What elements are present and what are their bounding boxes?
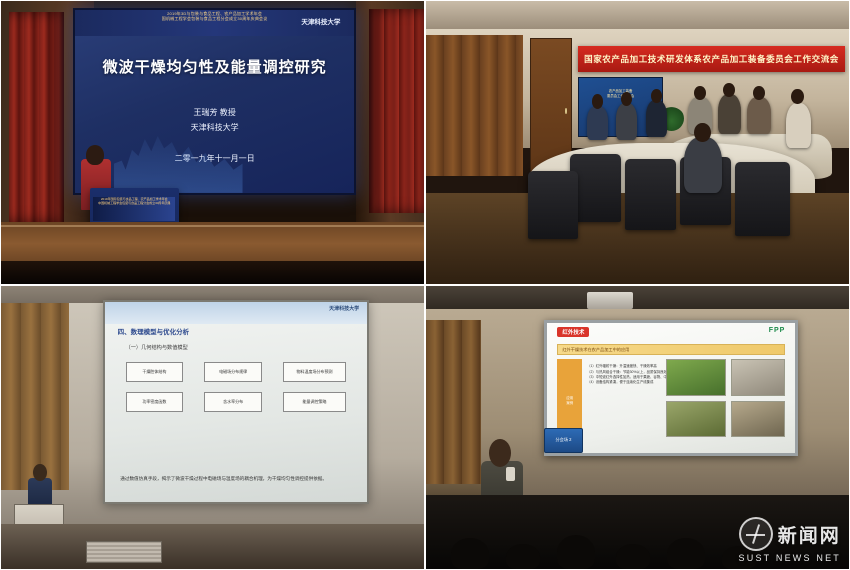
photo-panel-top-right: 国家农产品加工技术研发体系农产品加工装备委员会工作交流会 农产品加工装备 委员会… — [425, 0, 850, 285]
speaker-head-1 — [86, 145, 104, 165]
attendee-head — [651, 89, 662, 103]
slide-diagram-box: 功率密度函数 — [126, 392, 184, 412]
room4-wood-panel — [426, 320, 481, 490]
photo-collage: 2019年3D与包装与食品工程、农产品加工学术年会 国机械工程学会包装与食品工程… — [0, 0, 850, 570]
slide-title: 微波干燥均匀性及能量调控研究 — [92, 56, 338, 77]
attendee-head — [694, 86, 706, 100]
microphone-icon — [506, 467, 514, 481]
audience-head — [722, 546, 756, 569]
conference-banner: 国家农产品加工技术研发体系农产品加工装备委员会工作交流会 — [578, 46, 844, 71]
wall-vent-grille — [86, 541, 162, 564]
hall-floor — [1, 524, 424, 569]
ceiling-projector-icon — [587, 292, 634, 309]
session-badge-4: 分会场 2 — [544, 428, 582, 453]
photo-panel-bottom-left: 天津科技大学 四、数理模型与优化分析 （一）几何结构与数值模型 干燥腔体结构 电… — [0, 285, 425, 570]
slide-subheading-3: （一）几何结构与数值模型 — [126, 344, 283, 351]
slide-diagram-box: 物料温度场分布预测 — [283, 362, 346, 382]
office-chair — [735, 162, 790, 236]
office-chair — [625, 159, 676, 230]
audience-head — [506, 544, 540, 569]
slide-diagram-box: 电磁场分布规律 — [204, 362, 262, 382]
stage-edge-line — [1, 225, 424, 227]
attendee-head — [694, 123, 711, 143]
office-chair — [528, 171, 579, 239]
attendee — [718, 94, 741, 134]
slide-diagram-box: 干燥腔体结构 — [126, 362, 184, 382]
photo-panel-top-left: 2019年3D与包装与食品工程、农产品加工学术年会 国机械工程学会包装与食品工程… — [0, 0, 425, 285]
attendee — [747, 97, 770, 134]
projection-screen-1: 2019年3D与包装与食品工程、农产品加工学术年会 国机械工程学会包装与食品工程… — [73, 8, 356, 195]
slide-photo-thumb — [666, 359, 725, 395]
audience-head — [557, 535, 595, 569]
stage-curtain-right — [369, 9, 424, 213]
slide-presenter-info: 王瑞芳 教授 天津科技大学 二零一九年十一月一日 — [92, 105, 338, 166]
attendee-head — [753, 86, 765, 100]
slide-logo-3: 天津科技大学 — [329, 305, 359, 312]
audience-head — [616, 544, 650, 569]
speaker-head-3 — [33, 464, 47, 481]
attendee-foreground — [684, 137, 722, 194]
slide-heading-3: 四、数理模型与优化分析 — [118, 326, 302, 336]
slide-title-tag-4: 红外技术 — [557, 327, 589, 337]
door-knob-icon — [565, 108, 567, 113]
projection-screen-3: 天津科技大学 四、数理模型与优化分析 （一）几何结构与数值模型 干燥腔体结构 电… — [103, 300, 369, 504]
podium-banner-text: 2019年国际包装与食品工程、农产品加工学术年会 中国机械工程学会包装与食品工程… — [93, 197, 175, 221]
attendee — [786, 103, 811, 148]
slide-footer-3: 通过数值仿真手段，揭示了微波干燥过程中电磁场与温度场的耦合机理，为干燥均匀性调控… — [120, 476, 351, 482]
audience-head — [451, 538, 489, 569]
front-floor-shadow — [1, 261, 424, 284]
hall-wood-panel — [1, 303, 69, 490]
attendee — [646, 100, 667, 137]
attendee — [587, 106, 608, 140]
hall-pillar — [67, 303, 84, 507]
slide-photo-thumb — [731, 401, 786, 437]
slide-photo-thumb — [666, 401, 725, 437]
slide-photo-thumb — [731, 359, 786, 395]
attendee-head — [592, 94, 603, 108]
whiteboard-screen-4: 红外技术 FPP 红外干燥技术在农产品加工中的应用 （1）红外辐射干燥：升温速度… — [544, 320, 798, 456]
slide-brand-logo-4: FPP — [769, 327, 786, 334]
slide-top-band — [105, 302, 367, 324]
attendee — [616, 103, 637, 140]
slide-band-4: 红外干燥技术在农产品加工中的应用 — [557, 344, 785, 356]
audience-head — [667, 538, 705, 569]
photo-panel-bottom-right: 红外技术 FPP 红外干燥技术在农产品加工中的应用 （1）红外辐射干燥：升温速度… — [425, 285, 850, 570]
slide-diagram-box: 含水率分布 — [204, 392, 262, 412]
stage-curtain-left — [9, 12, 64, 221]
slide-diagram-box: 能量调控策略 — [283, 392, 346, 412]
slide-university-logo: 天津科技大学 — [268, 16, 341, 40]
wood-wall-panel — [426, 35, 523, 177]
